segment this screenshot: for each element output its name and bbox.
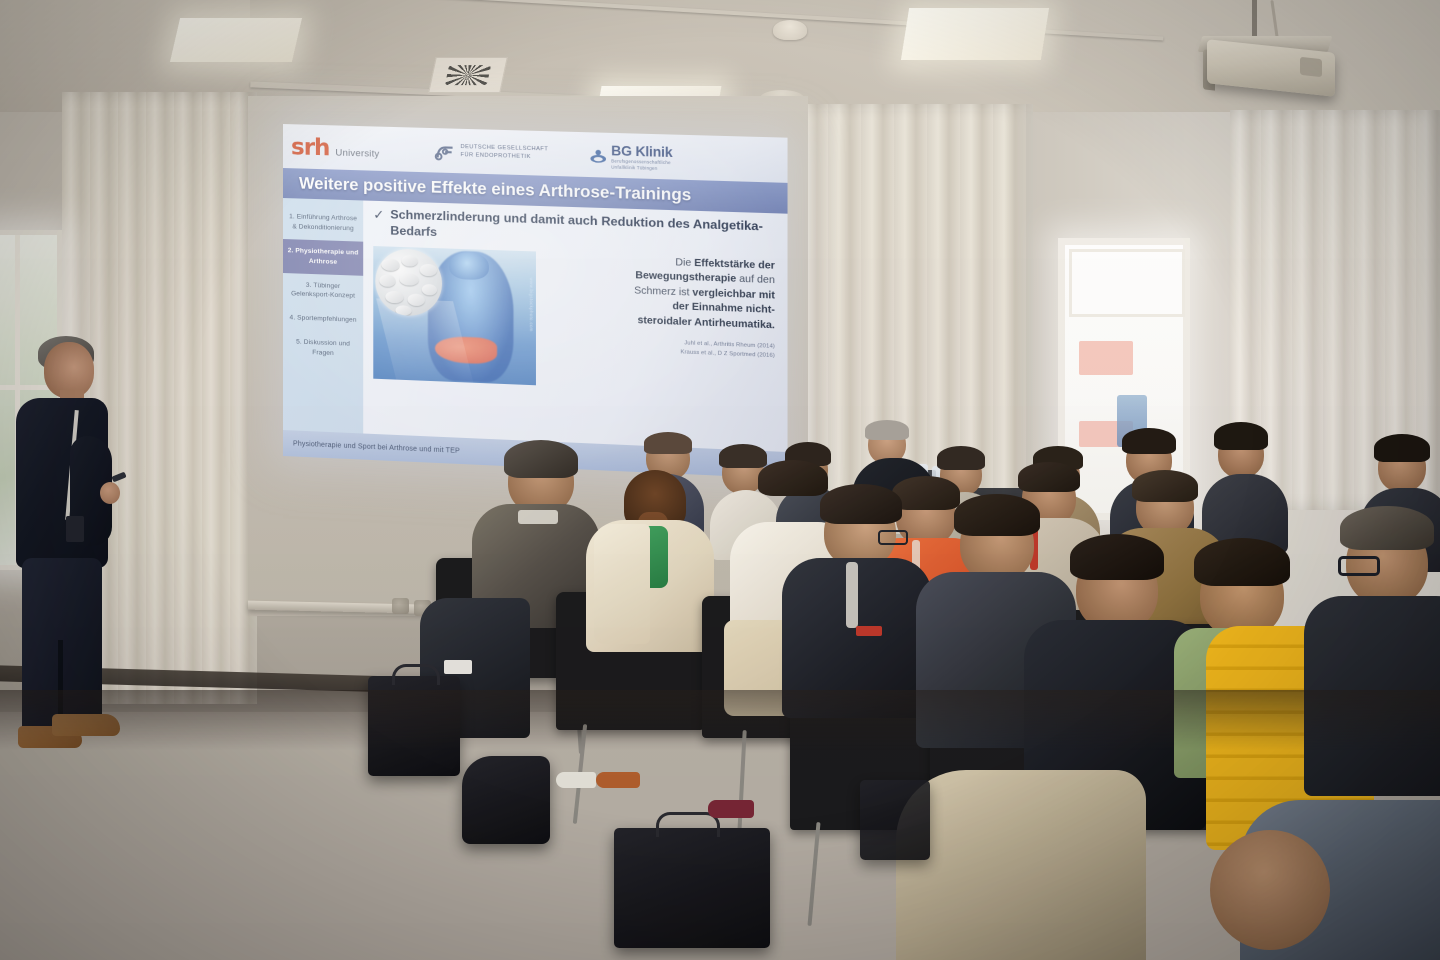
agenda-item-4[interactable]: 4. Sportempfehlungen — [283, 306, 363, 333]
agenda-item-5[interactable]: 5. Diskussion und Fragen — [283, 330, 363, 367]
presenter-hand — [100, 482, 120, 504]
text-1-bold: Effektstärke der — [694, 257, 775, 271]
bg-klinik-bird-icon — [590, 149, 608, 164]
slide-citations: Juhl et al., Arthritis Rheum (2014) Krau… — [544, 334, 775, 360]
conference-room-photo: srh University DEUTSCHE GESELLSCHAFT FÜR… — [0, 0, 1440, 960]
bg-klinik-name: BG Klinik — [611, 143, 672, 160]
bag-small[interactable] — [860, 780, 930, 860]
slide-agenda-nav: 1. Einführung Arthrose & Dekonditionieru… — [283, 198, 363, 433]
srh-university-logo: srh University — [291, 138, 379, 160]
brown-shoe — [596, 772, 640, 788]
text-3-plain: Schmerz ist — [634, 285, 692, 298]
window-top-sash — [1069, 249, 1185, 317]
bg-klinik-text: BG Klinik Berufsgenossenschaftliche Unfa… — [611, 143, 672, 172]
bg-klinik-logo: BG Klinik Berufsgenossenschaftliche Unfa… — [590, 142, 673, 172]
moderator-hair — [865, 420, 909, 440]
slide-bullet: ✓ Schmerzlinderung und damit auch Redukt… — [373, 207, 779, 252]
attendee-collar — [518, 510, 558, 524]
text-3-bold: vergleichbar mit — [692, 287, 774, 301]
slide-bullet-text: Schmerzlinderung und damit auch Reduktio… — [390, 207, 779, 252]
chair-leg — [807, 822, 820, 926]
air-diffuser-icon — [428, 57, 508, 93]
projection-screen: srh University DEUTSCHE GESELLSCHAFT FÜR… — [283, 124, 788, 479]
projector-lens — [1300, 57, 1322, 77]
head-shape — [449, 252, 488, 280]
cream-coat — [594, 524, 650, 644]
slide-footer-title: Physiotherapie und Sport bei Arthrose un… — [293, 440, 460, 454]
text-1-plain: Die — [675, 257, 694, 269]
ceiling-light-panel — [901, 8, 1049, 60]
dge-logo: DEUTSCHE GESELLSCHAFT FÜR ENDOPROTHETIK — [434, 142, 548, 164]
floor-shadow — [0, 690, 1440, 750]
ceiling-light-panel — [170, 18, 302, 62]
endoprothetik-glyph-icon — [434, 142, 456, 162]
text-4-bold: der Einnahme nicht- — [672, 301, 774, 316]
presentation-slide: srh University DEUTSCHE GESELLSCHAFT FÜR… — [283, 124, 788, 479]
slide-body: 1. Einführung Arthrose & Dekonditionieru… — [283, 198, 788, 452]
backpack[interactable] — [462, 756, 550, 844]
badge-strip — [856, 626, 882, 636]
agenda-item-2-active[interactable]: 2. Physiotherapie und Arthrose — [283, 239, 363, 276]
figure-watermark: www.bigstockphoto.com — [529, 277, 534, 331]
lanyard — [846, 562, 858, 628]
dge-logo-text: DEUTSCHE GESELLSCHAFT FÜR ENDOPROTHETIK — [461, 144, 549, 162]
anatomy-figure-image: www.bigstockphoto.com — [373, 246, 536, 385]
wall-socket[interactable] — [392, 598, 409, 614]
text-2-plain: auf den — [736, 274, 775, 287]
checkmark-icon: ✓ — [373, 207, 384, 222]
foreground-hand — [1210, 830, 1330, 950]
srh-logo-mark: srh — [291, 138, 329, 158]
agenda-item-1[interactable]: 1. Einführung Arthrose & Dekonditionieru… — [283, 205, 363, 241]
glasses-icon — [878, 530, 908, 545]
glasses-icon — [1338, 556, 1380, 576]
text-2-bold: Bewegungstherapie — [635, 270, 736, 285]
slide-content: ✓ Schmerzlinderung und damit auch Redukt… — [363, 200, 787, 452]
srh-logo-word: University — [335, 147, 379, 159]
burgundy-shoe — [708, 800, 754, 818]
smoke-detector-icon — [773, 20, 807, 40]
agenda-item-3[interactable]: 3. Tübinger Gelenksport-Konzept — [283, 273, 363, 310]
text-5-bold: steroidaler Antirheumatika. — [637, 315, 774, 331]
slide-text-block: Die Effektstärke der Bewegungstherapie a… — [544, 251, 779, 394]
presenter-clicker[interactable] — [111, 472, 126, 483]
slide-content-row: www.bigstockphoto.com Die Effektstärke d… — [373, 246, 779, 395]
bag-handle — [392, 664, 440, 685]
laptop-bag-front[interactable] — [614, 828, 770, 948]
presenter-badge — [66, 516, 84, 542]
pills-inset-image — [375, 248, 442, 317]
white-shoe — [556, 772, 596, 788]
bag-tag — [444, 660, 472, 674]
